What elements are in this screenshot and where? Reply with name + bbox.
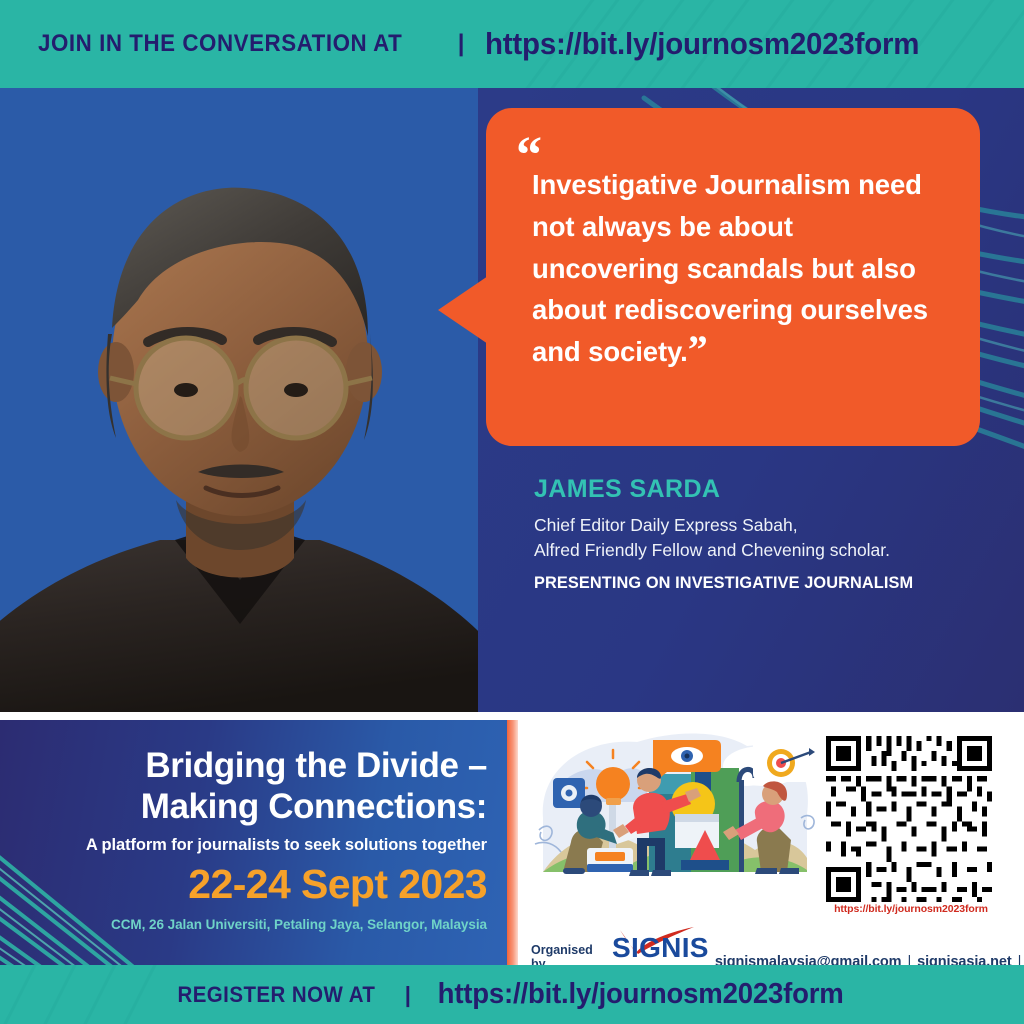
top-banner: JOIN IN THE CONVERSATION AT | https://bi… — [0, 0, 1024, 88]
collaboration-illustration — [525, 722, 820, 902]
event-title-line-1: Bridging the Divide – — [17, 746, 487, 787]
top-banner-label: JOIN IN THE CONVERSATION AT — [38, 30, 402, 58]
quote-bubble: “ Investigative Journalism need not alwa… — [486, 108, 980, 446]
signis-wordmark: SIGNIS — [612, 934, 709, 962]
bottom-banner-url[interactable]: https://bit.ly/journosm2023form — [438, 978, 844, 1011]
qr-code-svg — [826, 736, 992, 902]
event-date: 22-24 Sept 2023 — [17, 861, 487, 908]
speaker-info: JAMES SARDA Chief Editor Daily Express S… — [534, 475, 1004, 593]
quote-close-mark: ” — [688, 327, 708, 372]
panel-divider — [507, 720, 518, 965]
top-banner-url[interactable]: https://bit.ly/journosm2023form — [485, 26, 919, 62]
bottom-banner-label: REGISTER NOW AT — [177, 982, 375, 1008]
speaker-name: JAMES SARDA — [534, 475, 1004, 504]
top-banner-separator: | — [458, 30, 465, 58]
quote-body: Investigative Journalism need not always… — [532, 169, 928, 367]
speaker-presenting-topic: PRESENTING ON INVESTIGATIVE JOURNALISM — [534, 574, 999, 593]
speaker-photo — [0, 88, 478, 712]
event-details-box: Bridging the Divide – Making Connections… — [0, 720, 507, 965]
bottom-banner-separator: | — [405, 982, 411, 1008]
event-venue: CCM, 26 Jalan Universiti, Petaling Jaya,… — [17, 917, 487, 932]
event-poster: JOIN IN THE CONVERSATION AT | https://bi… — [0, 0, 1024, 1024]
qr-code-url[interactable]: https://bit.ly/journosm2023form — [826, 903, 996, 915]
quote-open-mark: “ — [516, 130, 542, 182]
event-subtitle: A platform for journalists to seek solut… — [17, 836, 487, 855]
portrait-illustration — [0, 88, 478, 712]
speaker-role-line-2: Alfred Friendly Fellow and Chevening sch… — [534, 538, 1004, 563]
quote-text: Investigative Journalism need not always… — [532, 146, 946, 373]
event-title-line-2: Making Connections: — [17, 787, 487, 828]
main-stage: “ Investigative Journalism need not alwa… — [0, 88, 1024, 712]
bottom-banner: REGISTER NOW AT | https://bit.ly/journos… — [0, 965, 1024, 1024]
speaker-role-line-1: Chief Editor Daily Express Sabah, — [534, 513, 1004, 538]
qr-code[interactable] — [826, 736, 992, 902]
illustration-svg — [525, 722, 820, 902]
quote-bubble-tail — [438, 276, 488, 344]
event-text-group: Bridging the Divide – Making Connections… — [17, 746, 487, 932]
